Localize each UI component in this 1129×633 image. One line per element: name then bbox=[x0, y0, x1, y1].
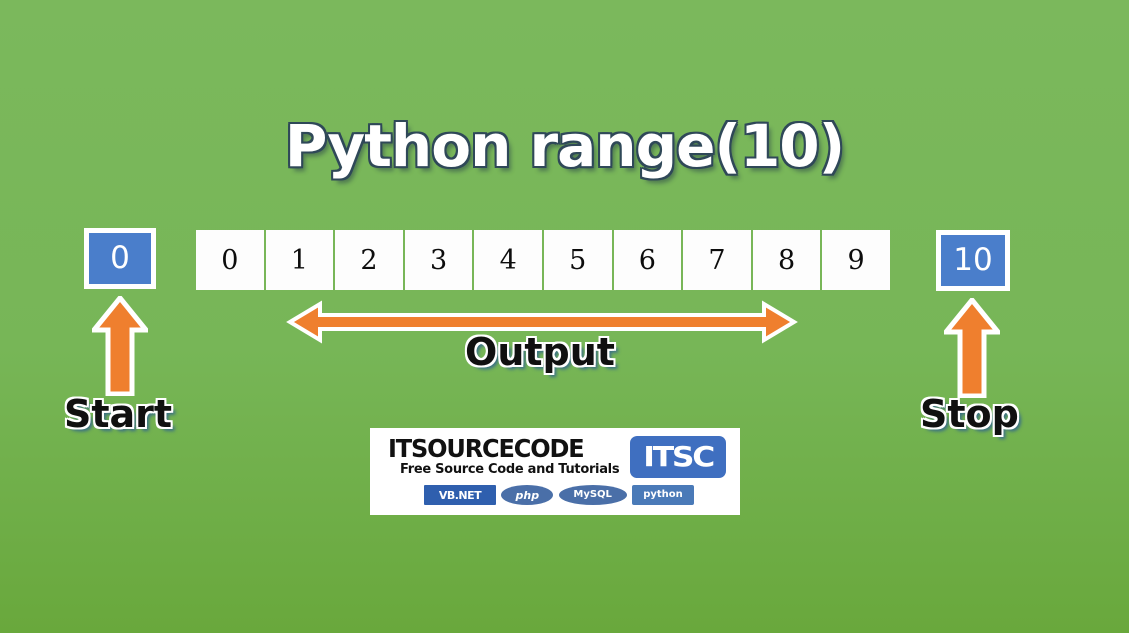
logo-tagline: Free Source Code and Tutorials bbox=[400, 463, 619, 476]
output-cell: 3 bbox=[405, 230, 473, 290]
output-cell-value: 5 bbox=[569, 245, 586, 276]
start-label: Start bbox=[64, 392, 172, 436]
slide-canvas: Python range(10) 0 0 1 2 3 4 5 6 7 8 9 1… bbox=[0, 0, 1129, 633]
logo-wordmark: ITSOURCECODE bbox=[388, 436, 583, 461]
output-cell: 7 bbox=[683, 230, 751, 290]
output-cell: 6 bbox=[614, 230, 682, 290]
output-cell: 5 bbox=[544, 230, 612, 290]
output-cell: 1 bbox=[266, 230, 334, 290]
python-logo-icon: python bbox=[632, 485, 694, 505]
stop-value-text: 10 bbox=[953, 245, 992, 276]
start-value-text: 0 bbox=[110, 243, 130, 274]
mysql-logo-icon: MySQL bbox=[559, 485, 627, 505]
vbnet-logo-icon: VB.NET bbox=[424, 485, 496, 505]
output-cell: 4 bbox=[474, 230, 542, 290]
logo-badge: ITSC bbox=[630, 436, 726, 478]
output-cell-value: 7 bbox=[708, 245, 725, 276]
page-title: Python range(10) bbox=[0, 112, 1129, 180]
output-cell-value: 2 bbox=[360, 245, 377, 276]
output-cell-value: 4 bbox=[500, 245, 517, 276]
output-cell-value: 3 bbox=[430, 245, 447, 276]
logo-tech-row: VB.NET php MySQL python bbox=[424, 482, 694, 508]
output-cell-row: 0 1 2 3 4 5 6 7 8 9 bbox=[196, 230, 890, 290]
output-cell-value: 1 bbox=[291, 245, 308, 276]
php-logo-icon: php bbox=[501, 485, 553, 505]
output-cell: 9 bbox=[822, 230, 890, 290]
output-cell: 0 bbox=[196, 230, 264, 290]
start-value-box: 0 bbox=[84, 228, 156, 289]
output-cell: 8 bbox=[753, 230, 821, 290]
logo-badge-text: ITSC bbox=[643, 443, 713, 471]
output-cell-value: 9 bbox=[848, 245, 865, 276]
output-cell-value: 6 bbox=[639, 245, 656, 276]
output-label: Output bbox=[0, 330, 1080, 374]
stop-label: Stop bbox=[920, 392, 1019, 436]
stop-value-box: 10 bbox=[936, 230, 1010, 291]
output-cell-value: 8 bbox=[778, 245, 795, 276]
itsourcecode-logo: ITSOURCECODE Free Source Code and Tutori… bbox=[370, 428, 740, 515]
logo-header-row: ITSOURCECODE Free Source Code and Tutori… bbox=[388, 436, 726, 480]
output-cell-value: 0 bbox=[221, 245, 238, 276]
output-cell: 2 bbox=[335, 230, 403, 290]
